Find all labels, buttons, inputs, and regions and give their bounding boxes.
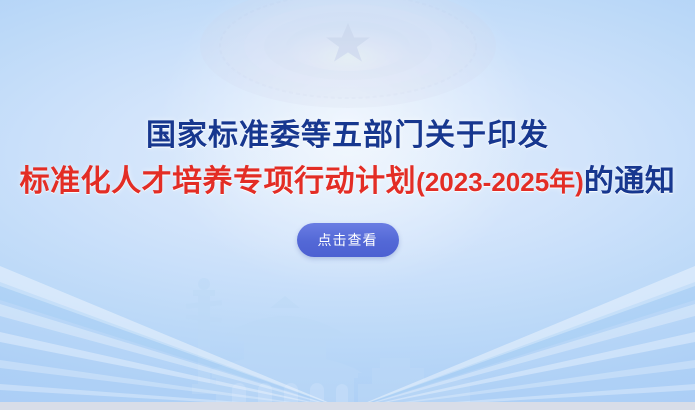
view-details-button[interactable]: 点击查看: [297, 223, 399, 257]
bottom-strip: [0, 402, 695, 410]
page-title-line-1: 国家标准委等五部门关于印发: [146, 117, 549, 155]
announcement-banner: 国家标准委等五部门关于印发 标准化人才培养专项行动计划(2023-2025年)的…: [0, 0, 695, 410]
notice-suffix-text: 的通知: [584, 165, 676, 198]
plan-name-text: 标准化人才培养专项行动计划: [20, 165, 417, 198]
plan-years-text: (2023-2025年): [416, 167, 584, 197]
page-title-line-2: 标准化人才培养专项行动计划(2023-2025年)的通知: [20, 163, 676, 201]
banner-content: 国家标准委等五部门关于印发 标准化人才培养专项行动计划(2023-2025年)的…: [0, 0, 695, 410]
